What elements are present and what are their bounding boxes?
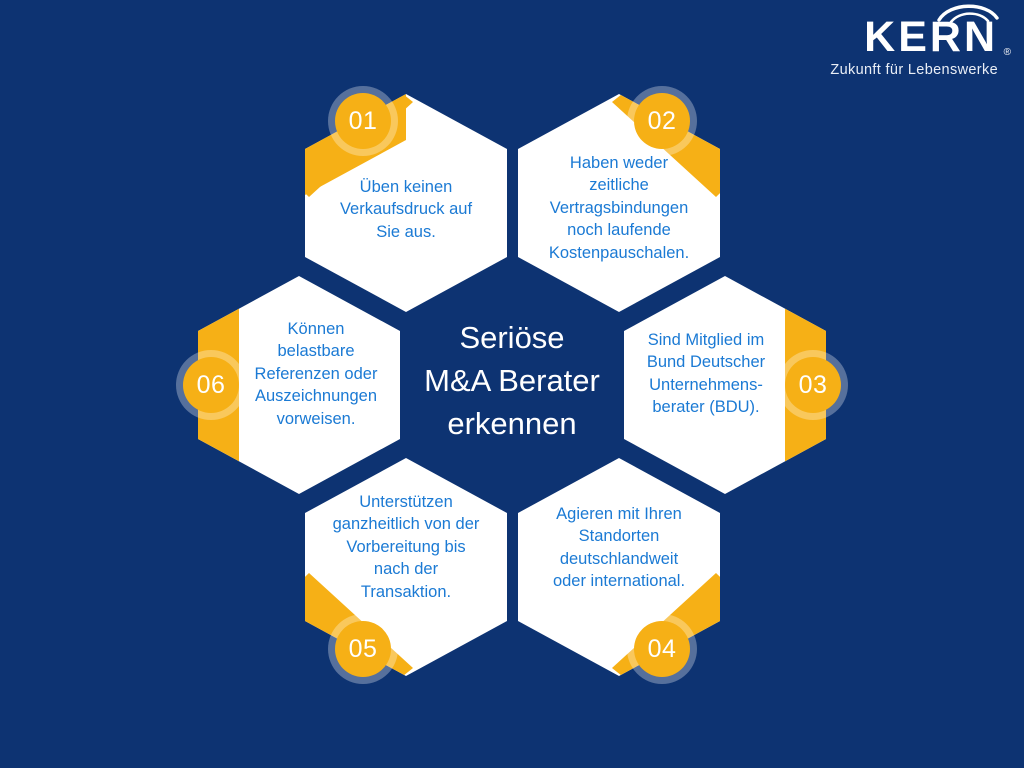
hexagon-badge-01[interactable]: 01 <box>328 86 398 156</box>
hexagon-badge-04[interactable]: 04 <box>627 614 697 684</box>
hexagon-text-02: Haben weder zeitliche Vertragsbindungen … <box>516 152 722 264</box>
hexagon-card-06[interactable]: Können belastbare Referenzen oder Auszei… <box>196 274 402 496</box>
hexagon-badge-02[interactable]: 02 <box>627 86 697 156</box>
logo-tagline: Zukunft für Lebenswerke <box>788 62 998 78</box>
hexagon-text-04: Agieren mit Ihren Standorten deutschland… <box>516 503 722 593</box>
hexagon-text-01: Üben keinen Verkaufsdruck auf Sie aus. <box>303 176 509 243</box>
badge-number-03: 03 <box>778 350 848 420</box>
hexagon-text-05: Unterstützen ganzheitlich von der Vorber… <box>303 491 509 603</box>
badge-number-06: 06 <box>176 350 246 420</box>
badge-number-02: 02 <box>627 86 697 156</box>
center-title: Seriöse M&A Berater erkennen <box>392 316 632 445</box>
registered-mark-icon: ® <box>1004 48 1011 58</box>
logo-wordmark-wrap: KERN ® <box>864 14 998 60</box>
badge-number-05: 05 <box>328 614 398 684</box>
badge-number-01: 01 <box>328 86 398 156</box>
hexagon-badge-05[interactable]: 05 <box>328 614 398 684</box>
kern-logo: KERN ® Zukunft für Lebenswerke <box>788 14 998 86</box>
hexagon-badge-03[interactable]: 03 <box>778 350 848 420</box>
hexagon-card-04[interactable]: Agieren mit Ihren Standorten deutschland… <box>516 456 722 678</box>
hexagon-badge-06[interactable]: 06 <box>176 350 246 420</box>
badge-number-04: 04 <box>627 614 697 684</box>
logo-word: KERN <box>864 14 998 60</box>
infographic-canvas: KERN ® Zukunft für Lebenswerke Üben kein… <box>0 0 1024 768</box>
